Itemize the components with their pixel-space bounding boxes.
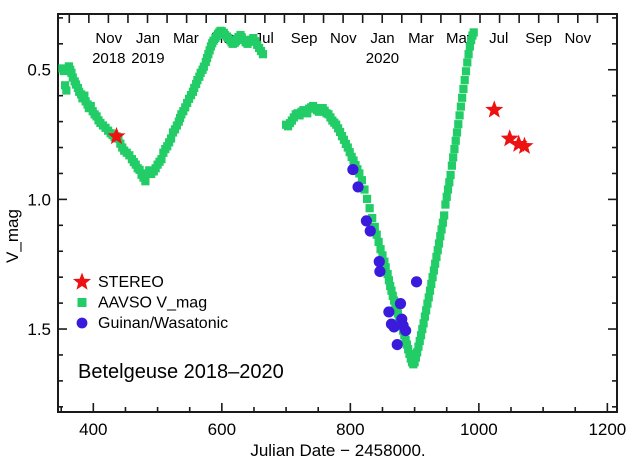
legend-label: STEREO	[98, 274, 164, 291]
data-point-guinan	[395, 298, 406, 309]
betelgeuse-light-curve-plot: 40060080010001200 0.51.01.5 NovJanMarMay…	[0, 0, 640, 463]
y-tick-label: 1.0	[27, 190, 51, 209]
data-point-guinan	[352, 181, 363, 192]
data-point-aavso	[440, 211, 448, 219]
data-point-aavso	[62, 86, 70, 94]
data-point-aavso	[457, 102, 465, 110]
data-point-aavso	[452, 137, 460, 145]
data-point-aavso	[453, 128, 461, 136]
top-month-label: Jul	[489, 30, 508, 47]
data-point-aavso	[450, 145, 458, 153]
top-month-label: Sep	[291, 30, 318, 47]
top-month-label: Nov	[564, 30, 591, 47]
data-point-aavso	[461, 76, 469, 84]
data-point-aavso	[464, 50, 472, 58]
data-point-guinan	[374, 256, 385, 267]
top-month-label: Nov	[95, 30, 122, 47]
data-point-guinan	[383, 306, 394, 317]
data-point-aavso	[458, 94, 466, 102]
y-tick-label: 1.5	[27, 320, 51, 339]
data-point-aavso	[259, 50, 267, 58]
data-point-aavso	[462, 67, 470, 75]
figure-root: 40060080010001200 0.51.01.5 NovJanMarMay…	[0, 0, 640, 463]
x-tick-label: 400	[79, 420, 107, 439]
data-point-guinan	[411, 276, 422, 287]
legend-label: AAVSO V_mag	[98, 295, 207, 312]
legend-label: Guinan/Wasatonic	[98, 315, 228, 332]
data-point-guinan	[374, 266, 385, 277]
top-year-label: 2019	[131, 50, 164, 67]
y-tick-label: 0.5	[27, 61, 51, 80]
legend-marker-circle	[77, 318, 88, 329]
top-month-label: Mar	[173, 30, 199, 47]
data-point-aavso	[141, 177, 149, 185]
x-tick-label: 1200	[588, 420, 626, 439]
data-point-aavso	[455, 111, 463, 119]
data-point-aavso	[446, 171, 454, 179]
top-year-label: 2020	[366, 50, 399, 67]
data-point-guinan	[392, 339, 403, 350]
data-point-aavso	[463, 58, 471, 66]
data-point-aavso	[454, 120, 462, 128]
data-point-aavso	[441, 200, 449, 208]
x-tick-label: 600	[208, 420, 236, 439]
data-point-aavso	[435, 239, 443, 247]
top-month-label: Jan	[136, 30, 160, 47]
data-point-aavso	[439, 219, 447, 227]
data-point-aavso	[449, 153, 457, 161]
data-point-aavso	[363, 195, 371, 203]
data-point-aavso	[445, 178, 453, 186]
top-year-label: 2018	[92, 50, 125, 67]
data-point-aavso	[444, 185, 452, 193]
data-point-guinan	[361, 215, 372, 226]
data-point-guinan	[365, 225, 376, 236]
data-point-aavso	[459, 85, 467, 93]
data-point-aavso	[470, 28, 478, 36]
data-point-guinan	[347, 164, 358, 175]
x-axis-label: Julian Date − 2458000.	[250, 441, 425, 460]
top-month-label: Jan	[370, 30, 394, 47]
x-tick-label: 800	[336, 420, 364, 439]
y-axis-label: V_mag	[3, 209, 22, 263]
legend-marker-square	[78, 298, 87, 307]
plot-annotation: Betelgeuse 2018–2020	[78, 361, 284, 383]
top-month-label: Nov	[330, 30, 357, 47]
data-point-aavso	[366, 204, 374, 212]
data-point-aavso	[443, 193, 451, 201]
plot-background	[0, 0, 640, 463]
data-point-guinan	[400, 325, 411, 336]
data-point-aavso	[375, 238, 383, 246]
top-month-label: Sep	[525, 30, 552, 47]
x-tick-label: 1000	[460, 420, 498, 439]
top-month-label: Mar	[408, 30, 434, 47]
data-point-aavso	[448, 162, 456, 170]
